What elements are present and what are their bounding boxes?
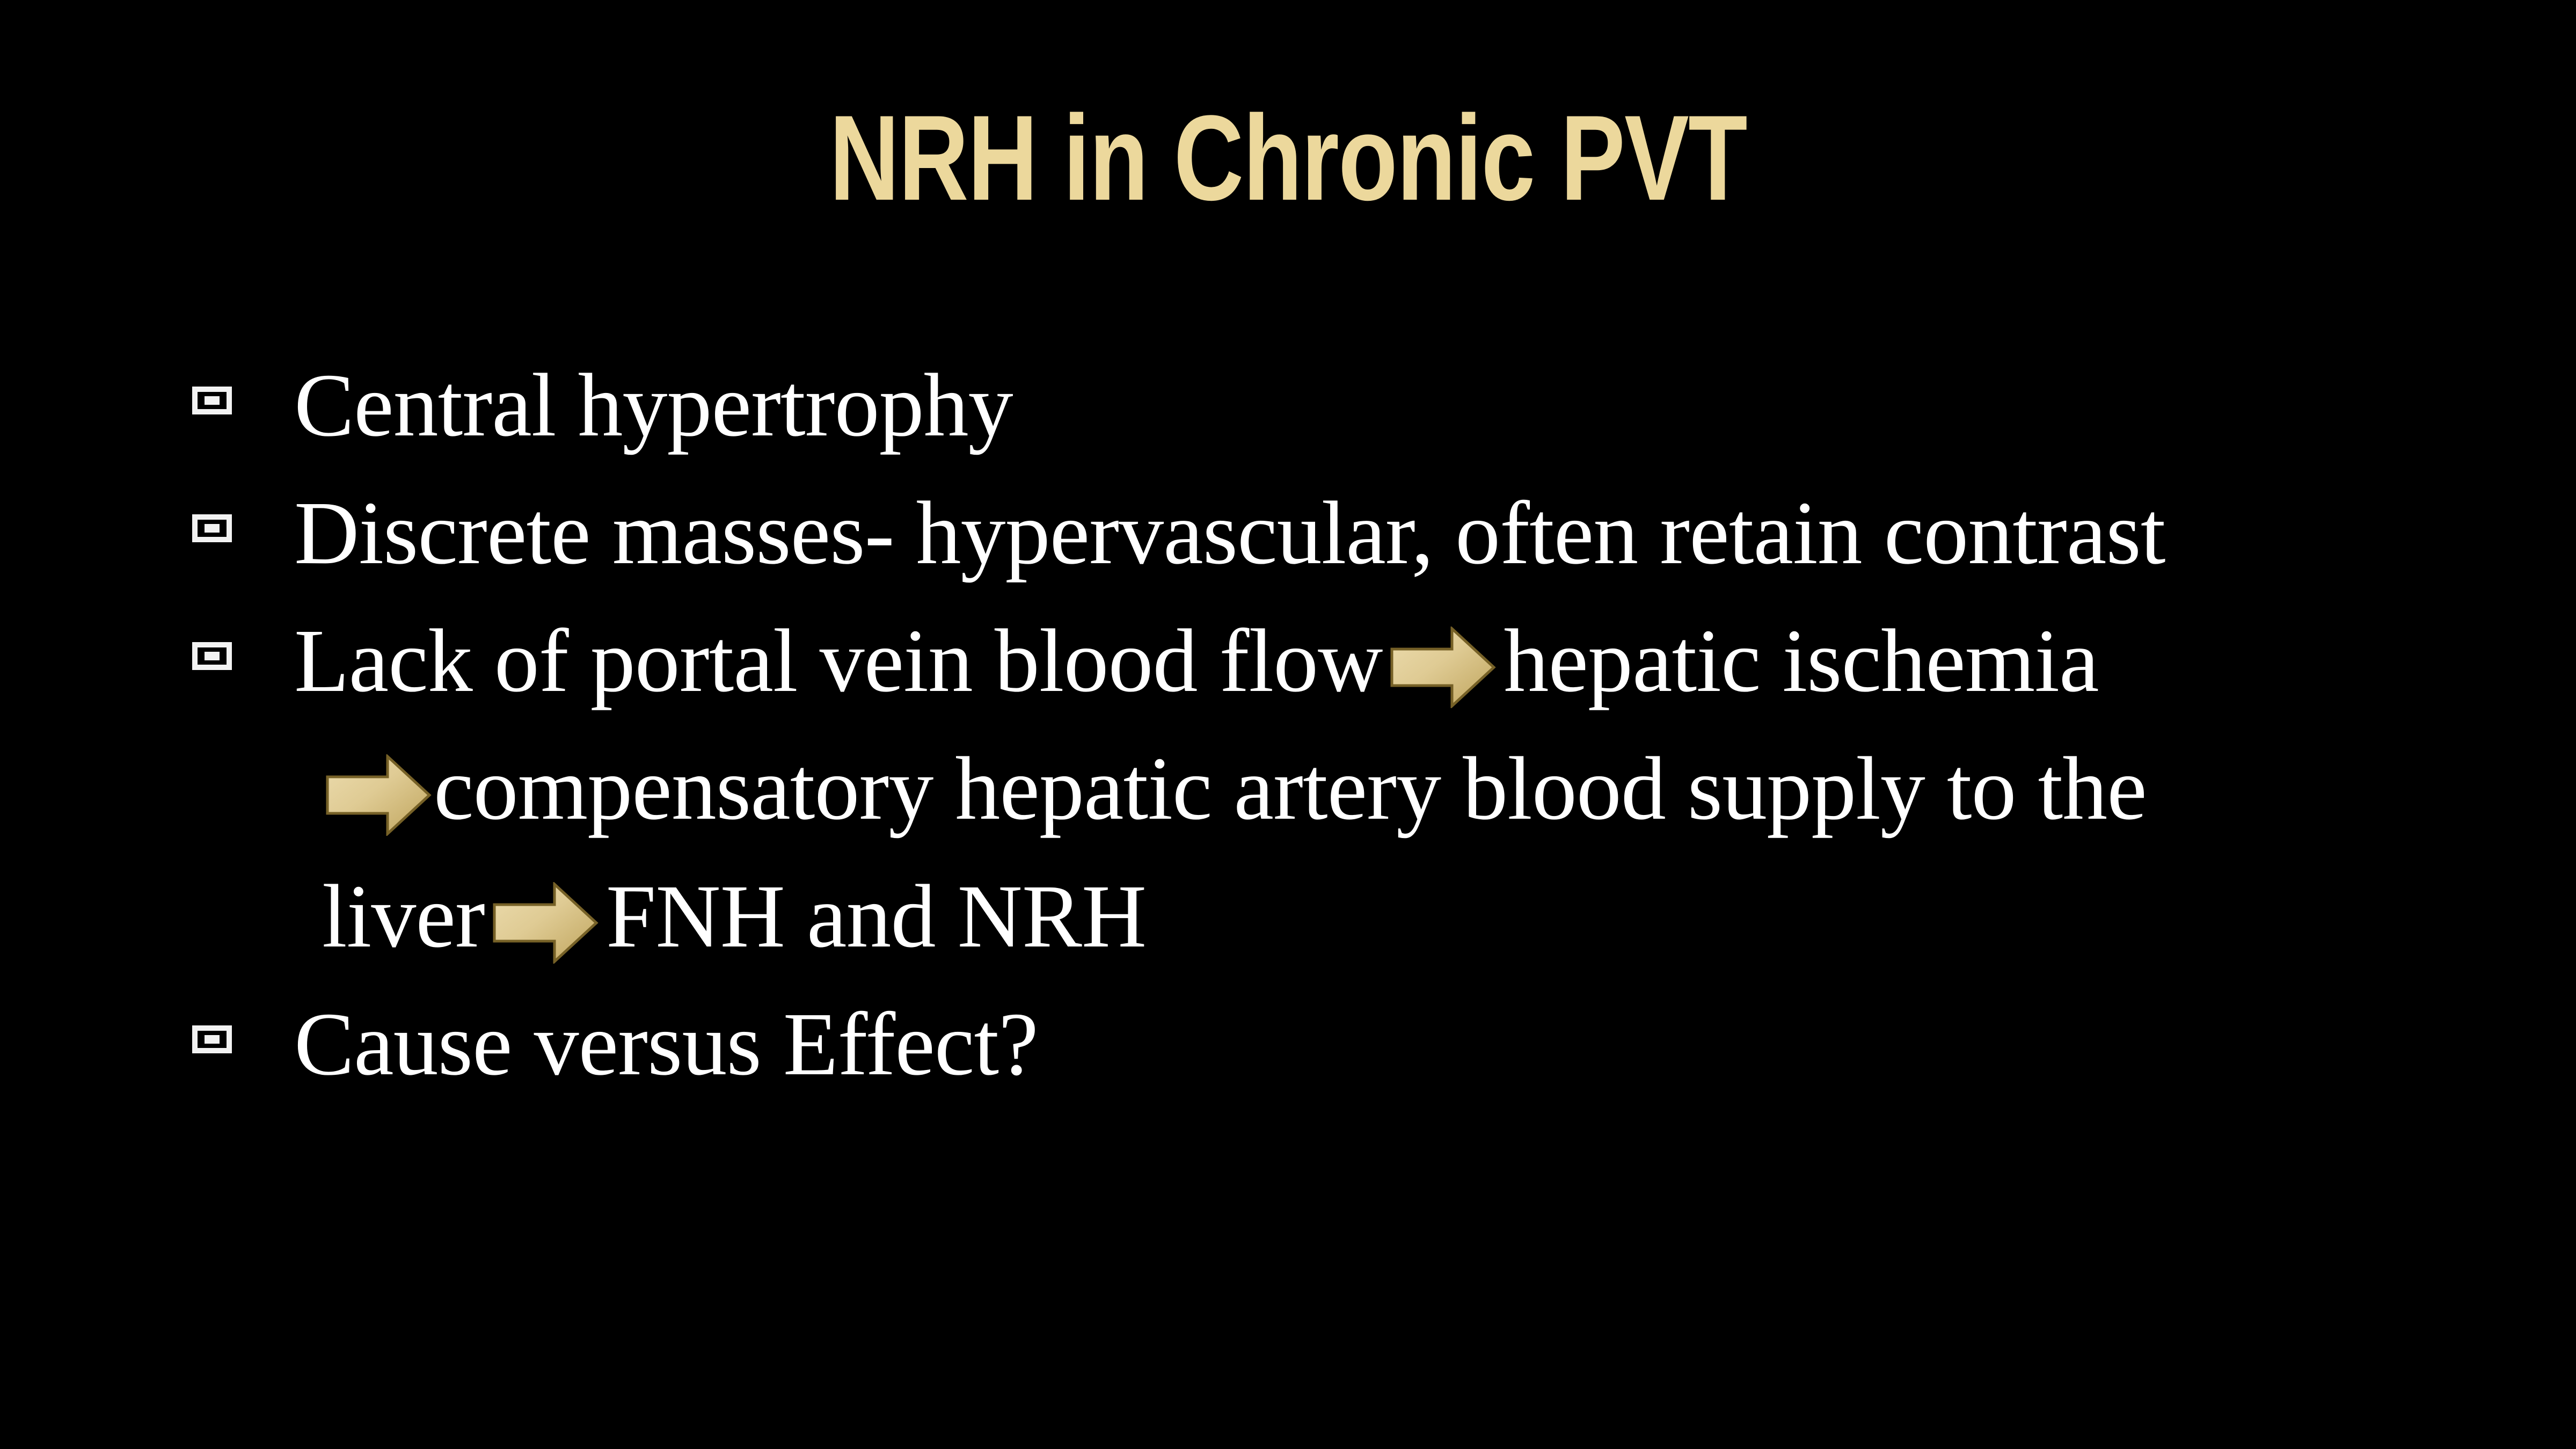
presentation-slide: NRH in Chronic PVT Central hypertrophyDi… bbox=[0, 0, 2576, 1449]
text-run: compensatory hepatic artery blood supply… bbox=[434, 739, 2147, 839]
right-arrow-icon bbox=[1390, 627, 1496, 708]
text-run: Discrete masses- hypervascular, often re… bbox=[294, 483, 2165, 583]
bullet-line-text: liverFNH and NRH bbox=[322, 853, 1146, 980]
bullet-line: Central hypertrophy bbox=[0, 341, 2576, 469]
bullet-line: compensatory hepatic artery blood supply… bbox=[0, 725, 2576, 853]
text-run: Central hypertrophy bbox=[294, 355, 1013, 455]
right-arrow-icon bbox=[492, 882, 599, 964]
bullet-line: Lack of portal vein blood flowhepatic is… bbox=[0, 597, 2576, 725]
bullet-line: liverFNH and NRH bbox=[0, 853, 2576, 980]
text-run: Lack of portal vein blood flow bbox=[294, 611, 1382, 711]
text-run: liver bbox=[322, 867, 485, 966]
bullet-line-text: compensatory hepatic artery blood supply… bbox=[322, 725, 2147, 853]
text-run: Cause versus Effect? bbox=[294, 994, 1038, 1094]
text-run: FNH and NRH bbox=[606, 867, 1146, 966]
bullet-line-text: Cause versus Effect? bbox=[294, 980, 1038, 1108]
page-title: NRH in Chronic PVT bbox=[258, 94, 2318, 221]
text-run: hepatic ischemia bbox=[1504, 611, 2098, 711]
right-arrow-icon bbox=[325, 754, 432, 836]
bullet-line: Cause versus Effect? bbox=[0, 980, 2576, 1108]
square-bullet-icon bbox=[192, 514, 232, 542]
bullet-line: Discrete masses- hypervascular, often re… bbox=[0, 469, 2576, 597]
square-bullet-icon bbox=[192, 642, 232, 670]
square-bullet-icon bbox=[192, 387, 232, 414]
square-bullet-icon bbox=[192, 1025, 232, 1053]
bullet-line-text: Discrete masses- hypervascular, often re… bbox=[294, 469, 2165, 597]
bullet-line-text: Lack of portal vein blood flowhepatic is… bbox=[294, 597, 2099, 725]
bullet-list: Central hypertrophyDiscrete masses- hype… bbox=[0, 341, 2576, 1108]
bullet-line-text: Central hypertrophy bbox=[294, 341, 1013, 469]
